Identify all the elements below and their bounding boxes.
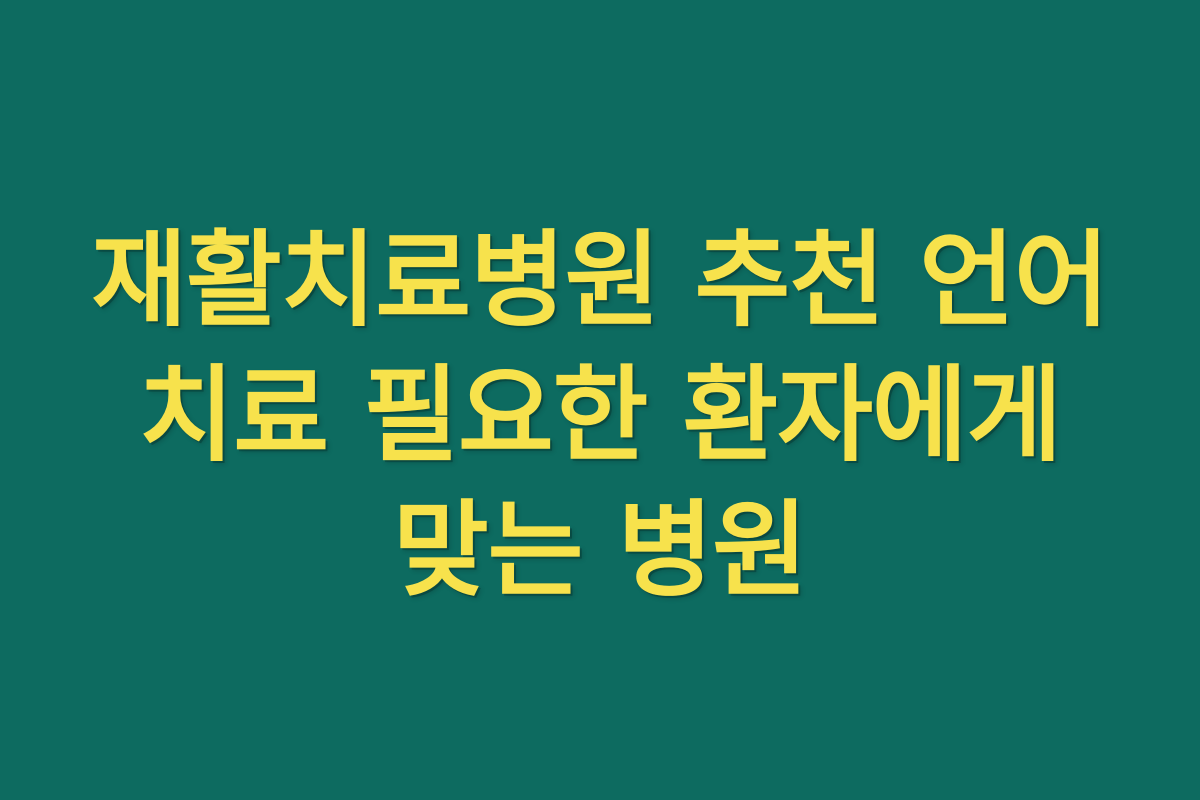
thumbnail-card: 재활치료병원 추천 언어 치료 필요한 환자에게 맞는 병원 xyxy=(0,0,1200,800)
headline-block: 재활치료병원 추천 언어 치료 필요한 환자에게 맞는 병원 xyxy=(50,213,1150,618)
headline-line-2: 치료 필요한 환자에게 xyxy=(139,348,1062,483)
headline-line-3: 맞는 병원 xyxy=(393,483,807,618)
headline-line-1: 재활치료병원 추천 언어 xyxy=(91,213,1108,348)
